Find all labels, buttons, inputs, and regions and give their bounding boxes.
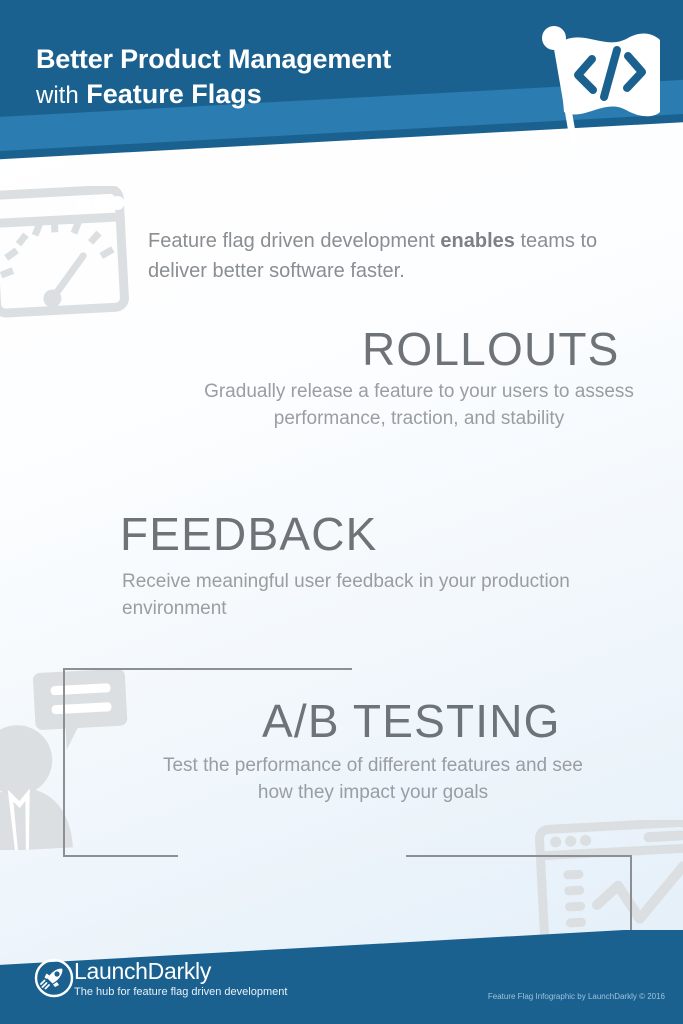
section-title-feedback: FEEDBACK [120,510,378,558]
section-body-rollouts: Gradually release a feature to your user… [196,378,642,432]
page-title-feature-flags: Feature Flags [86,79,262,109]
copyright-credit: Feature Flag Infographic by LaunchDarkly… [488,992,665,1001]
footer-content: LaunchDarkly The hub for feature flag dr… [0,930,683,1024]
header-title-block: Better Product Management with Feature F… [36,42,391,114]
intro-text-before: Feature flag driven development [148,230,440,252]
infographic-poster: Better Product Management with Feature F… [0,0,683,1024]
intro-paragraph: Feature flag driven development enables … [148,226,600,286]
footer: LaunchDarkly The hub for feature flag dr… [0,930,683,1024]
rocket-logo-icon [34,958,74,1003]
section-title-ab-testing: A/B TESTING [262,697,561,745]
page-title-line1: Better Product Management [36,42,391,76]
page-title-with: with [36,82,79,109]
intro-text-bold: enables [440,230,514,252]
flag-code-icon [520,18,670,173]
section-title-rollouts: ROLLOUTS [362,325,620,373]
brand-name: LaunchDarkly [74,958,211,985]
brand-tagline: The hub for feature flag driven developm… [74,986,287,998]
section-body-feedback: Receive meaningful user feedback in your… [122,568,570,622]
page-title-line2: with Feature Flags [36,76,391,114]
section-body-ab-testing: Test the performance of different featur… [150,752,596,806]
